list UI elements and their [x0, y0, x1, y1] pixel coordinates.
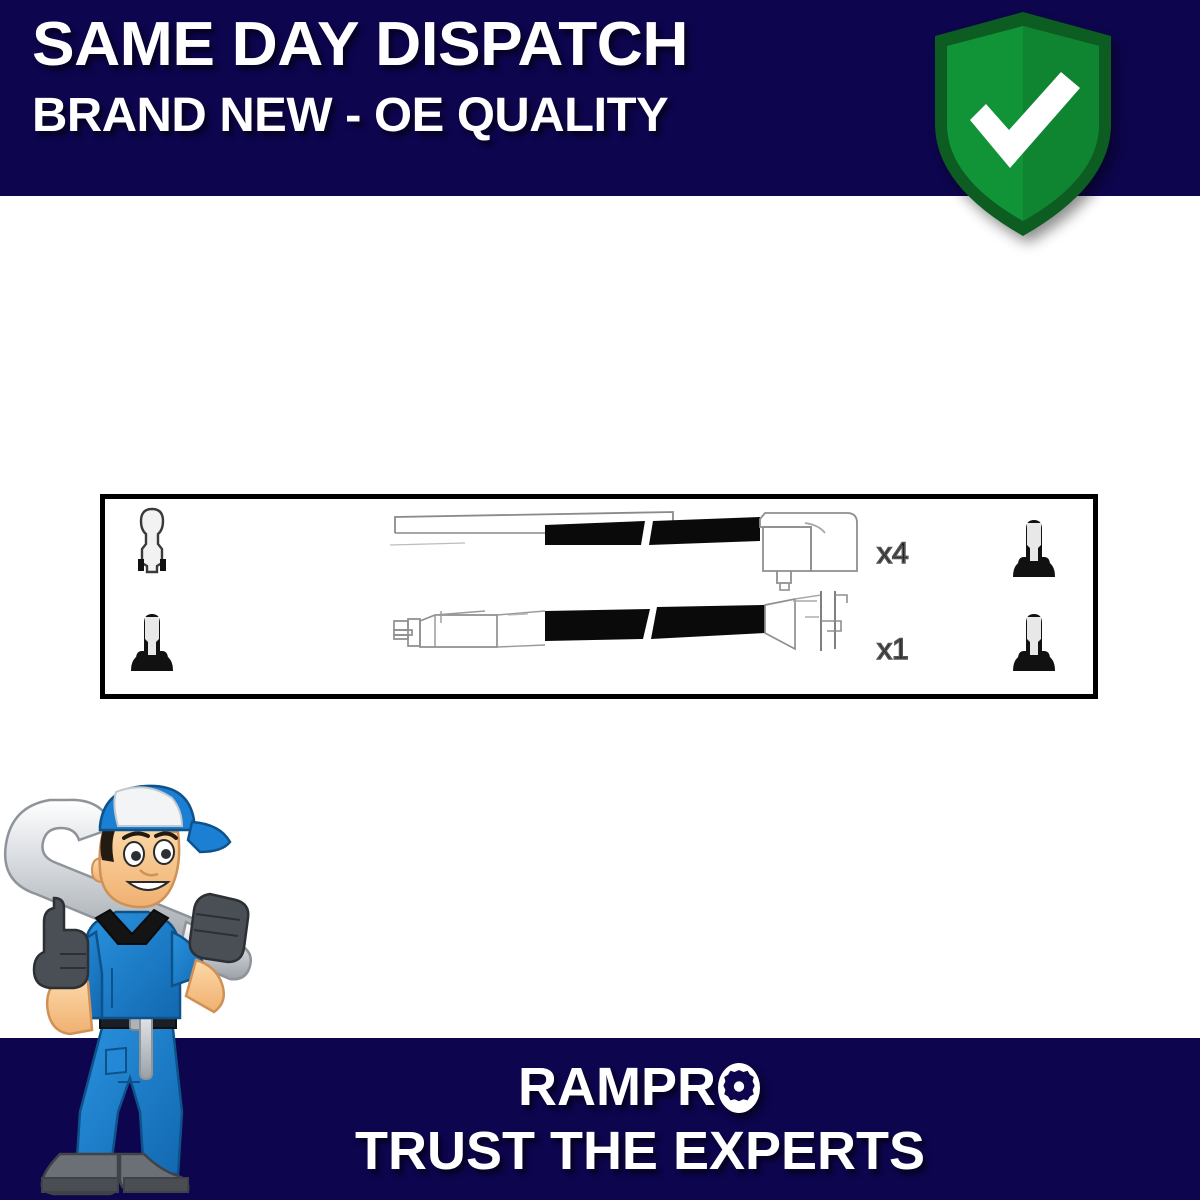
quantity-label-x1: x1: [877, 633, 909, 666]
brand-name-prefix: RAMPR: [518, 1060, 716, 1114]
spark-plug-boot-icon-bottom-right: [1013, 614, 1055, 671]
quantity-label-x4: x4: [877, 537, 909, 570]
gear-icon: [717, 1060, 761, 1114]
spark-plug-boot-icon-top-right: [1013, 520, 1055, 577]
top-banner-text-group: SAME DAY DISPATCH BRAND NEW - OE QUALITY: [32, 14, 892, 140]
spark-plug-boot-icon: [131, 614, 173, 671]
distributor-connector-icon: [394, 619, 420, 646]
short-lead: x1: [394, 591, 909, 666]
brand-tagline: TRUST THE EXPERTS: [355, 1124, 925, 1178]
spark-plug-terminal-icon: [138, 509, 166, 572]
cable-segment-right: [649, 517, 760, 545]
ignition-lead-set-schematic: x4: [105, 499, 1093, 694]
coil-connector-icon: [760, 513, 857, 590]
long-lead: x4: [390, 512, 909, 590]
headline-brand-new-oe-quality: BRAND NEW - OE QUALITY: [32, 92, 909, 140]
cable-segment-left: [545, 521, 645, 545]
brand-name: RAMPR: [518, 1060, 762, 1114]
mechanic-mascot: [0, 782, 270, 1200]
product-diagram-box: x4: [100, 494, 1098, 699]
shield-check-icon: [930, 8, 1116, 240]
top-promo-banner: SAME DAY DISPATCH BRAND NEW - OE QUALITY: [0, 0, 1200, 196]
headline-same-day-dispatch: SAME DAY DISPATCH: [32, 14, 918, 76]
mascot-legs: [76, 1020, 182, 1174]
